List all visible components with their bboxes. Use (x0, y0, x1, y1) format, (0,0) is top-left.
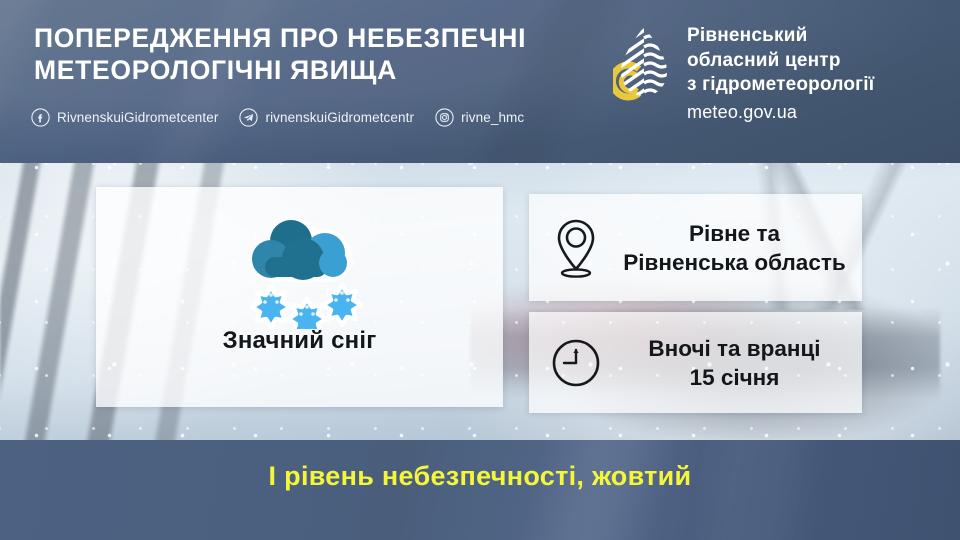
instagram-icon (435, 108, 454, 127)
social-label-facebook: RivnenskuiGidrometcenter (57, 110, 218, 125)
social-link-telegram[interactable]: rivnenskuiGidrometcentr (239, 108, 414, 127)
facebook-icon (31, 108, 50, 127)
logo-text-block: Рівненський обласний центр з гідрометеор… (687, 24, 874, 125)
map-pin-icon (543, 217, 609, 279)
logo-line-3: з гідрометеорології (687, 73, 874, 98)
social-link-facebook[interactable]: RivnenskuiGidrometcenter (31, 108, 218, 127)
time-text: Вночі та вранці 15 січня (623, 334, 862, 392)
social-link-instagram[interactable]: rivne_hmc (435, 108, 524, 127)
weather-warning-poster: ПОПЕРЕДЖЕННЯ ПРО НЕБЕЗПЕЧНІ МЕТЕОРОЛОГІЧ… (0, 0, 960, 540)
location-card: Рівне та Рівненська область (529, 194, 862, 301)
social-links: RivnenskuiGidrometcenter rivnenskuiGidro… (31, 108, 545, 127)
time-card: Вночі та вранці 15 січня (529, 312, 862, 413)
snow-cloud-icon (225, 207, 375, 329)
organization-logo[interactable]: Рівненський обласний центр з гідрометеор… (613, 24, 874, 125)
clock-icon (543, 338, 609, 388)
phenomenon-label: Значний сніг (96, 327, 503, 355)
telegram-icon (239, 108, 258, 127)
page-title: ПОПЕРЕДЖЕННЯ ПРО НЕБЕЗПЕЧНІ МЕТЕОРОЛОГІЧ… (34, 22, 526, 86)
logo-website-url[interactable]: meteo.gov.ua (687, 100, 874, 125)
logo-line-1: Рівненський (687, 24, 874, 49)
water-drop-leaf-logo-icon (613, 24, 675, 102)
location-text: Рівне та Рівненська область (623, 219, 862, 277)
social-label-telegram: rivnenskuiGidrometcentr (265, 110, 414, 125)
social-label-instagram: rivne_hmc (461, 110, 524, 125)
logo-line-2: обласний центр (687, 49, 874, 74)
header-band: ПОПЕРЕДЖЕННЯ ПРО НЕБЕЗПЕЧНІ МЕТЕОРОЛОГІЧ… (0, 0, 960, 163)
phenomenon-card: Значний сніг (96, 187, 503, 407)
footer-band: І рівень небезпечності, жовтий (0, 440, 960, 540)
warning-level-text: І рівень небезпечності, жовтий (0, 461, 960, 492)
